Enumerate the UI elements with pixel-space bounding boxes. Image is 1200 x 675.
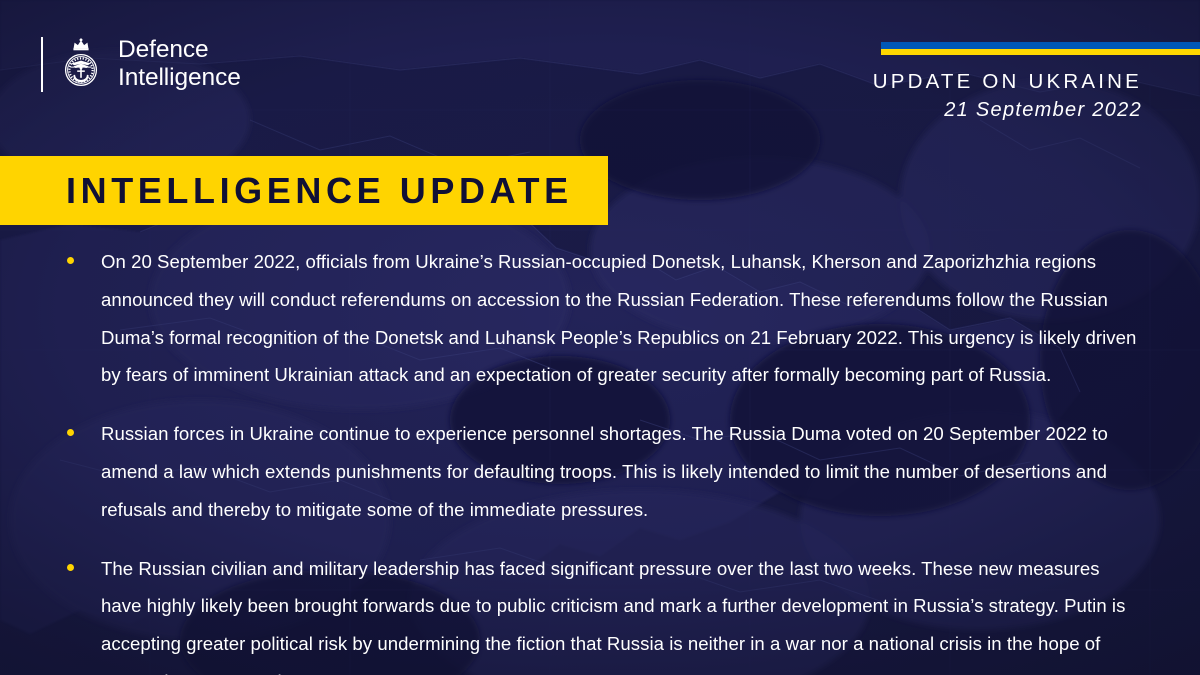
banner-title: INTELLIGENCE UPDATE bbox=[66, 171, 573, 211]
bullet-text: Russian forces in Ukraine continue to ex… bbox=[101, 415, 1144, 528]
brand-line-2: Intelligence bbox=[118, 64, 241, 92]
list-item: On 20 September 2022, officials from Ukr… bbox=[0, 243, 1144, 394]
bullet-list: On 20 September 2022, officials from Ukr… bbox=[0, 243, 1200, 675]
bullet-dot-icon bbox=[67, 429, 74, 436]
brand-name: Defence Intelligence bbox=[118, 36, 241, 92]
brand-line-1: Defence bbox=[118, 36, 241, 64]
list-item: Russian forces in Ukraine continue to ex… bbox=[0, 415, 1144, 528]
brand-lockup: Defence Intelligence bbox=[41, 34, 241, 94]
header: Defence Intelligence UPDATE ON UKRAINE 2… bbox=[0, 0, 1200, 150]
bullet-text: The Russian civilian and military leader… bbox=[101, 550, 1144, 675]
header-titles: UPDATE ON UKRAINE 21 September 2022 bbox=[873, 69, 1142, 124]
bullet-dot-icon bbox=[67, 257, 74, 264]
update-title: UPDATE ON UKRAINE bbox=[873, 69, 1142, 95]
ukraine-flag-bar bbox=[881, 42, 1200, 55]
brand-divider bbox=[41, 37, 43, 92]
bullet-text: On 20 September 2022, officials from Ukr… bbox=[101, 243, 1144, 394]
flag-stripe-yellow bbox=[881, 49, 1200, 56]
bullet-dot-icon bbox=[67, 564, 74, 571]
defence-intelligence-crest-icon bbox=[57, 36, 105, 92]
intelligence-update-slide: Defence Intelligence UPDATE ON UKRAINE 2… bbox=[0, 0, 1200, 675]
update-date: 21 September 2022 bbox=[873, 96, 1142, 124]
list-item: The Russian civilian and military leader… bbox=[0, 550, 1144, 675]
intelligence-update-banner: INTELLIGENCE UPDATE bbox=[0, 156, 608, 225]
